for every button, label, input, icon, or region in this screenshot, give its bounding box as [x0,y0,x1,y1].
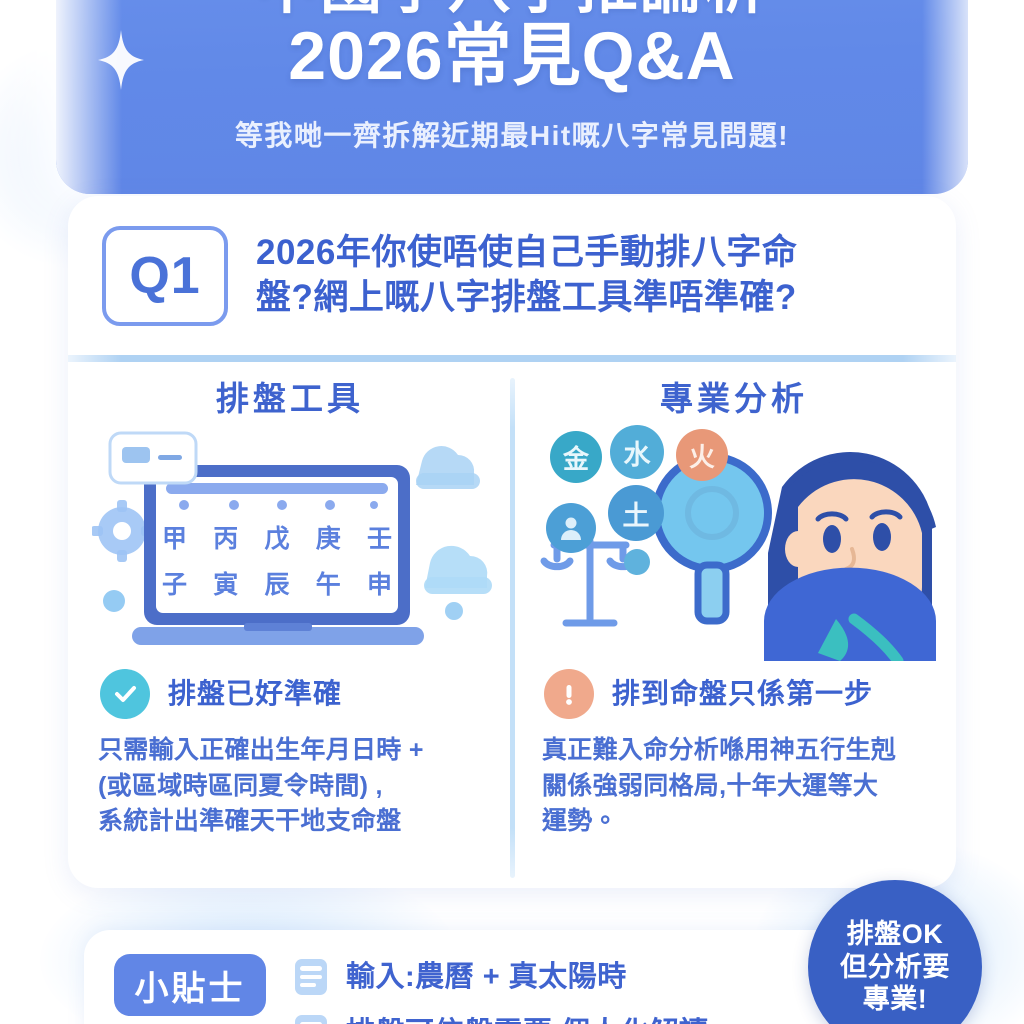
stamp-line-1: 排盤OK [847,918,944,951]
person-icon [558,515,584,541]
stamp-line-2: 但分析要 [840,951,950,984]
tips-badge: 小貼士 [114,954,266,1016]
bazi-cell: 寅 [213,565,238,601]
left-body-line: (或區域時區同夏令時間) , [98,769,488,805]
banner-subtitle: 等我哋一齊拆解近期最Hit嘅八字常見問題! [56,122,968,150]
gear-icon [92,500,153,562]
question-text: 2026年你使唔使自己手動排八字命 盤?網上嘅八字排盤工具準唔準確? [256,231,922,321]
banner-title-main: 2026常見Q&A [56,22,968,90]
stamp-line-3: 專業! [863,983,928,1016]
element-bubble: 土 [608,485,664,541]
left-point-label: 排盤已好準確 [168,680,342,708]
document-icon [292,1012,330,1024]
cloud-icon [416,446,480,489]
element-bubble-small [624,549,650,575]
left-point-row: 排盤已好準確 [92,669,488,719]
document-icon [292,956,330,998]
analyst-illustration: 金 水 火 土 [536,423,932,661]
bazi-cell: 午 [316,565,341,601]
right-body-line: 運勢。 [542,804,932,840]
tip-text: 排盤可信盤需要 個人化解讀 [346,1019,709,1024]
bazi-cell: 子 [162,565,187,601]
dot-icon-2 [445,602,463,620]
cloud-icon-2 [424,546,492,594]
bazi-cell: 甲 [162,519,187,555]
bazi-chart-row-2: 子 寅 辰 午 申 [162,565,392,601]
check-icon [100,669,150,719]
list-item: 排盤可信盤需要 個人化解讀 [292,1012,910,1024]
question-header: Q1 2026年你使唔使自己手動排八字命 盤?網上嘅八字排盤工具準唔準確? [68,196,956,356]
laptop-illustration: 甲 丙 戊 庚 壬 子 寅 辰 午 申 [92,423,488,661]
bazi-cell: 庚 [316,519,341,555]
balance-scale-icon [544,541,636,623]
left-body-line: 系統計出準確天干地支命盤 [98,804,488,840]
comparison-columns: 排盤工具 [68,368,956,888]
bazi-chart-row-1: 甲 丙 戊 庚 壬 [162,519,392,555]
element-bubble-person [546,503,596,553]
column-left-title: 排盤工具 [92,382,488,415]
tip-text: 輸入:農曆 + 真太陽時 [346,963,627,992]
left-body-text: 只需輸入正確出生年月日時 + (或區域時區同夏令時間) , 系統計出準確天干地支… [92,733,488,840]
header-divider [68,355,956,362]
warning-icon [544,669,594,719]
qa-card: Q1 2026年你使唔使自己手動排八字命 盤?網上嘅八字排盤工具準唔準確? 排盤… [68,196,956,888]
tooltip-window [110,433,196,483]
status-badge: 排盤OK 但分析要 專業! [808,880,982,1024]
avatar [764,452,936,661]
banner-title-top: 中國字八字推論析 [56,0,968,18]
right-point-label: 排到命盤只係第一步 [612,680,873,708]
right-point-row: 排到命盤只係第一步 [536,669,932,719]
element-bubble: 金 [550,431,602,483]
left-body-line: 只需輸入正確出生年月日時 + [98,733,488,769]
dot-icon [103,590,125,612]
element-bubble: 水 [610,425,664,479]
infographic-poster: 中國字八字推論析 2026常見Q&A 等我哋一齊拆解近期最Hit嘅八字常見問題!… [0,0,1024,1024]
column-right: 專業分析 [512,368,956,888]
question-line-2: 盤?網上嘅八字排盤工具準唔準確? [256,276,922,321]
right-body-line: 真正難入命分析喺用神五行生剋 [542,733,932,769]
right-body-line: 關係強弱同格局,十年大運等大 [542,769,932,805]
bazi-cell: 申 [367,565,392,601]
question-number-badge: Q1 [102,226,228,326]
bazi-cell: 壬 [367,519,392,555]
header-banner: 中國字八字推論析 2026常見Q&A 等我哋一齊拆解近期最Hit嘅八字常見問題! [56,0,968,194]
bazi-cell: 辰 [264,565,289,601]
question-line-1: 2026年你使唔使自己手動排八字命 [256,231,922,276]
column-left: 排盤工具 [68,368,512,888]
right-body-text: 真正難入命分析喺用神五行生剋 關係強弱同格局,十年大運等大 運勢。 [536,733,932,840]
bazi-cell: 丙 [213,519,238,555]
bazi-cell: 戊 [264,519,289,555]
magnifier-icon [656,457,768,621]
element-bubble: 火 [676,429,728,481]
column-right-title: 專業分析 [536,382,932,415]
